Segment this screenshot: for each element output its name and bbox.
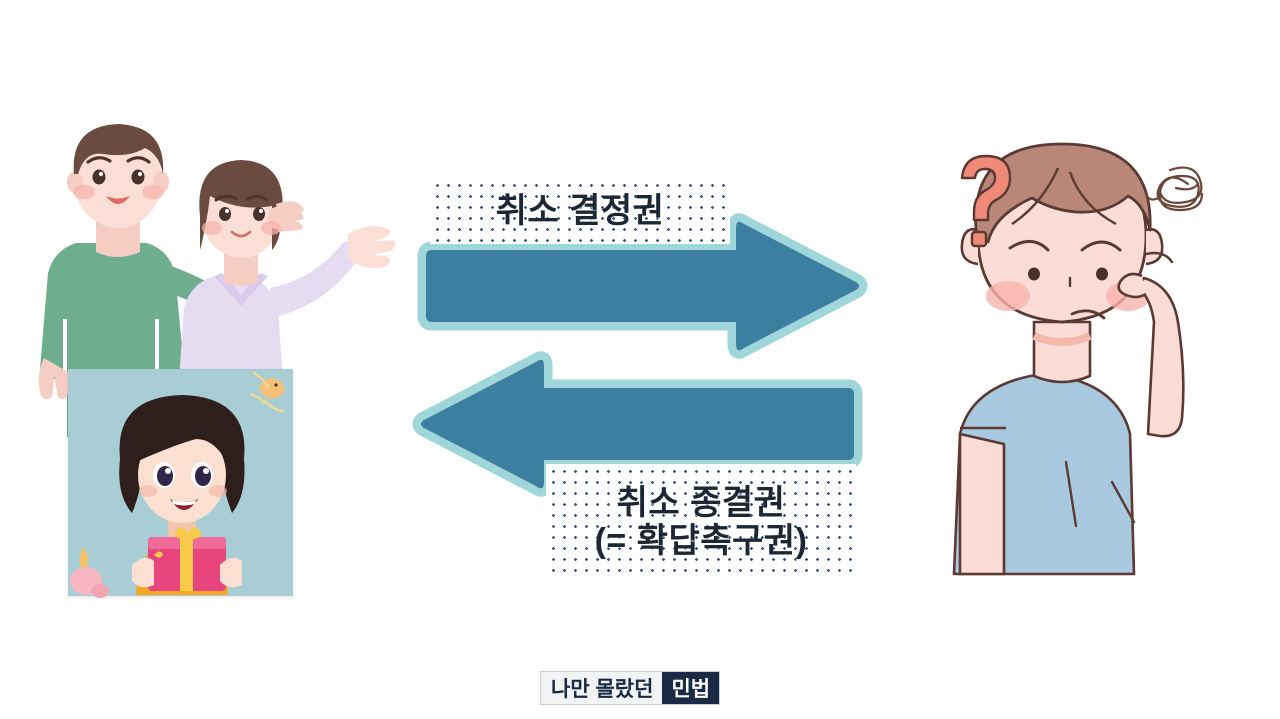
- scribble-icon: [1146, 168, 1202, 210]
- cancellation-termination-label: 취소 종결권 (= 확답촉구권): [546, 464, 856, 580]
- watermark-tag: 민법: [662, 672, 719, 704]
- girl-with-gift-photo: [68, 369, 293, 596]
- parents-illustration: [18, 108, 398, 408]
- termination-label-line1: 취소 종결권: [617, 484, 786, 522]
- person-body: [954, 374, 1134, 574]
- termination-label-line2: (= 확답촉구권): [595, 522, 808, 560]
- girl-with-gift-photo-svg: [68, 369, 293, 596]
- confused-person-svg: [930, 126, 1230, 586]
- parents-illustration-svg: [18, 108, 398, 408]
- confused-person-illustration: [930, 126, 1230, 586]
- watermark-badge: 나만 몰랐던 민법: [540, 671, 720, 705]
- watermark-title: 나만 몰랐던: [541, 672, 662, 704]
- cancellation-decision-label: 취소 결정권: [430, 178, 730, 244]
- slide-canvas: 취소 결정권 취소 종결권 (= 확답촉구권) 나만 몰랐던 민법: [0, 0, 1280, 719]
- cancellation-termination-label-text: 취소 종결권 (= 확답촉구권): [595, 484, 808, 560]
- cancellation-decision-label-text: 취소 결정권: [496, 192, 665, 230]
